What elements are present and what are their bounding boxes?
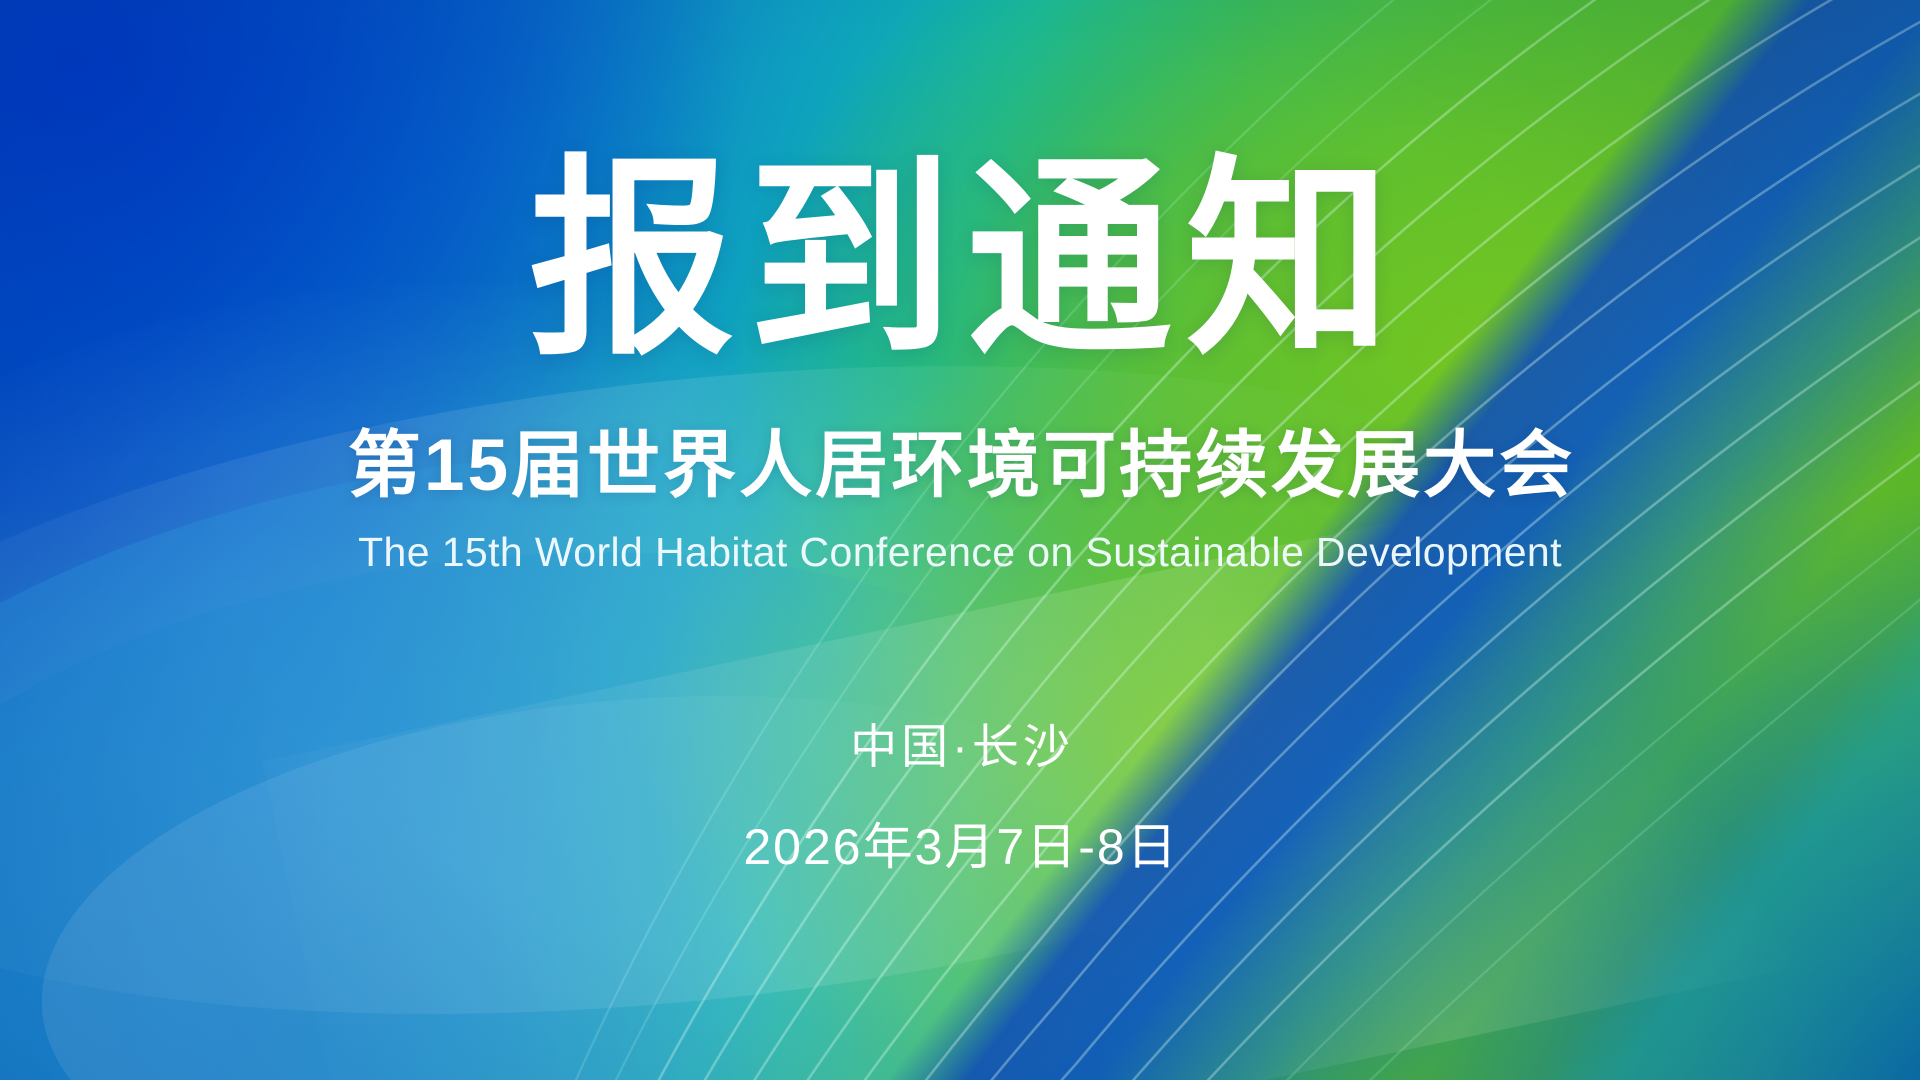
- page-title: 报到通知: [515, 154, 1405, 367]
- poster-content: 报到通知 第15届世界人居环境可持续发展大会 The 15th World Ha…: [0, 0, 1920, 1080]
- conference-poster: 报到通知 第15届世界人居环境可持续发展大会 The 15th World Ha…: [0, 0, 1920, 1080]
- event-date: 2026年3月7日-8日: [741, 822, 1178, 872]
- conference-name-en: The 15th World Habitat Conference on Sus…: [358, 532, 1562, 573]
- conference-name-cn: 第15届世界人居环境可持续发展大会: [345, 429, 1575, 502]
- event-location: 中国·长沙: [846, 723, 1074, 770]
